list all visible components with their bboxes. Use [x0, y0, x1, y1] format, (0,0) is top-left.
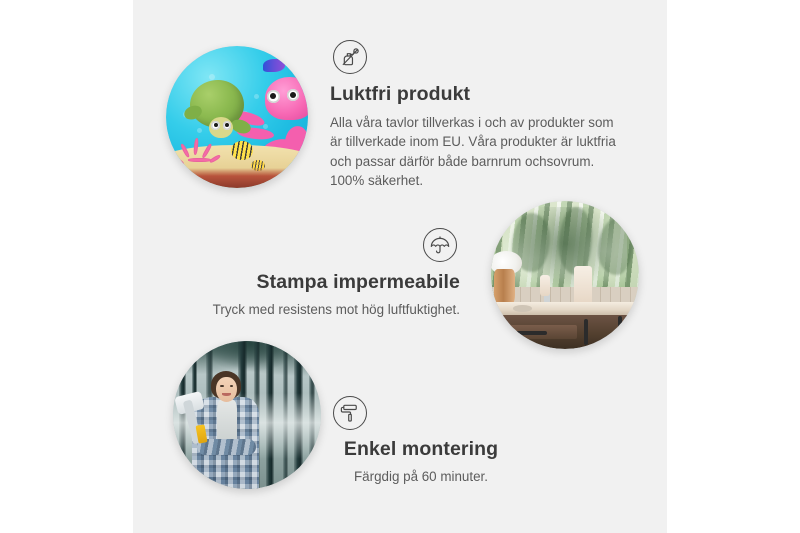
cabinet-handle-right [618, 316, 622, 341]
person-inner-shirt [217, 400, 236, 444]
underwater-cartoon-photo [166, 46, 308, 188]
drawer-handle [515, 331, 548, 335]
cabinet-handle-left [584, 319, 588, 344]
feature-title: Enkel montering [306, 438, 536, 461]
soap-dish [513, 305, 532, 312]
yellow-striped-fish [231, 141, 252, 159]
paint-roller-icon [333, 396, 367, 430]
soap-dispenser [574, 266, 592, 304]
feature-title: Luktfri produkt [330, 83, 626, 106]
feature-description: Alla våra tavlor tillverkas i och av pro… [330, 113, 626, 191]
person-face [216, 377, 237, 402]
sea-foreground-band [166, 168, 308, 188]
feature-easy-assembly: Enkel montering Färgdig på 60 minuter. [306, 396, 536, 486]
small-bottle [540, 275, 550, 296]
feature-title: Stampa impermeabile [196, 271, 460, 294]
octopus-eye-left [267, 90, 280, 103]
umbrella-icon [423, 228, 457, 262]
feature-description: Tryck med resistens mot hög luftfuktighe… [196, 300, 460, 319]
feature-odor-free: Luktfri produkt Alla våra tavlor tillver… [330, 40, 626, 191]
bathroom-vanity-photo [491, 201, 639, 349]
turtle-eye-right [223, 121, 232, 130]
feature-waterproof-print: Stampa impermeabile Tryck med resistens … [196, 228, 460, 319]
product-feature-banner: Luktfri produkt Alla våra tavlor tillver… [0, 0, 800, 533]
painter-forest-photo [173, 341, 321, 489]
turtle-eye-left [211, 121, 220, 130]
feature-description: Färgdig på 60 minuter. [306, 467, 536, 486]
blue-fish [263, 59, 286, 72]
no-odor-spray-bottle-icon [333, 40, 367, 74]
